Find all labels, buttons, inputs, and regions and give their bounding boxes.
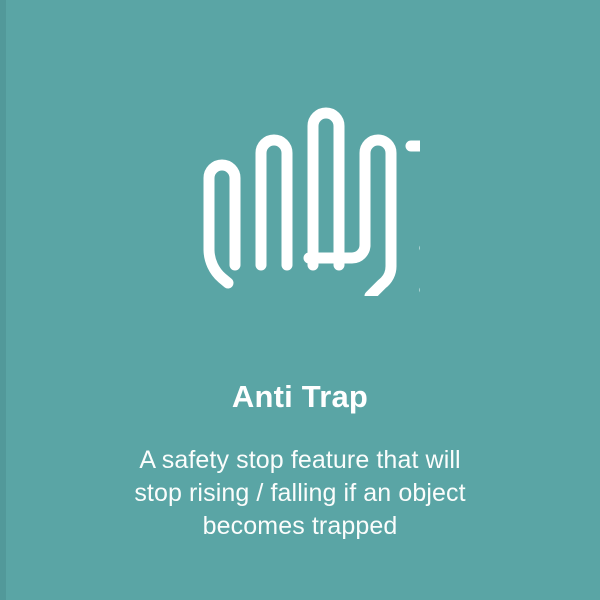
page-title: Anti Trap	[0, 377, 600, 417]
anti-trap-feature-card: Anti Trap A safety stop feature that wil…	[0, 0, 600, 600]
description-line: becomes trapped	[40, 510, 560, 543]
description-line: A safety stop feature that will	[40, 444, 560, 477]
description-line: stop rising / falling if an object	[40, 477, 560, 510]
anti-trap-hand-icon	[180, 90, 420, 296]
feature-description: A safety stop feature that will stop ris…	[40, 444, 560, 543]
icon-container	[0, 88, 600, 298]
